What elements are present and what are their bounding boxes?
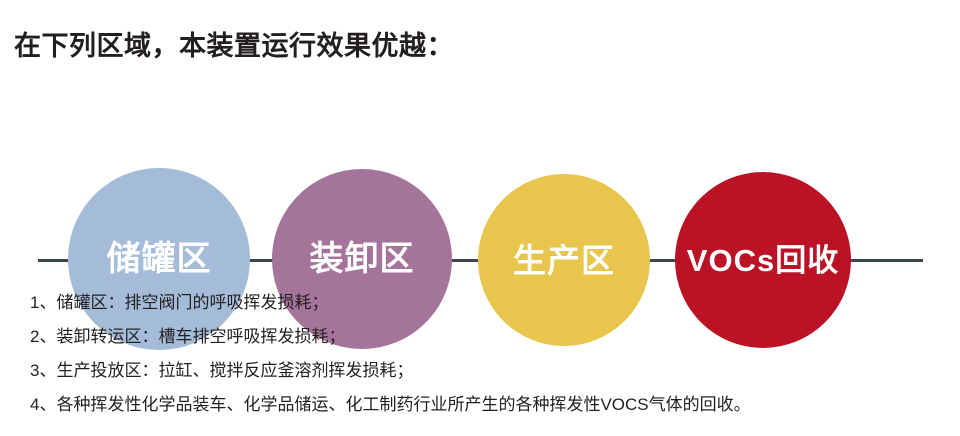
diagram-node-production-area-label: 生产区	[513, 244, 615, 277]
process-diagram: 储罐区 装卸区 生产区 VOCs回收	[0, 78, 960, 273]
diagram-node-loading-area-label: 装卸区	[310, 242, 415, 276]
notes-list: 1、储罐区：排空阀门的呼吸挥发损耗； 2、装卸转运区：槽车排空呼吸挥发损耗； 3…	[30, 286, 950, 422]
diagram-node-storage-area-label: 储罐区	[107, 242, 212, 276]
note-item: 2、装卸转运区：槽车排空呼吸挥发损耗；	[30, 320, 950, 354]
diagram-node-vocs-recovery-label: VOCs回收	[687, 245, 839, 276]
note-item: 1、储罐区：排空阀门的呼吸挥发损耗；	[30, 286, 950, 320]
note-item: 3、生产投放区：拉缸、搅拌反应釜溶剂挥发损耗；	[30, 354, 950, 388]
note-item: 4、各种挥发性化学品装车、化学品储运、化工制药行业所产生的各种挥发性VOCS气体…	[30, 388, 950, 422]
page-title: 在下列区域，本装置运行效果优越：	[14, 24, 454, 63]
